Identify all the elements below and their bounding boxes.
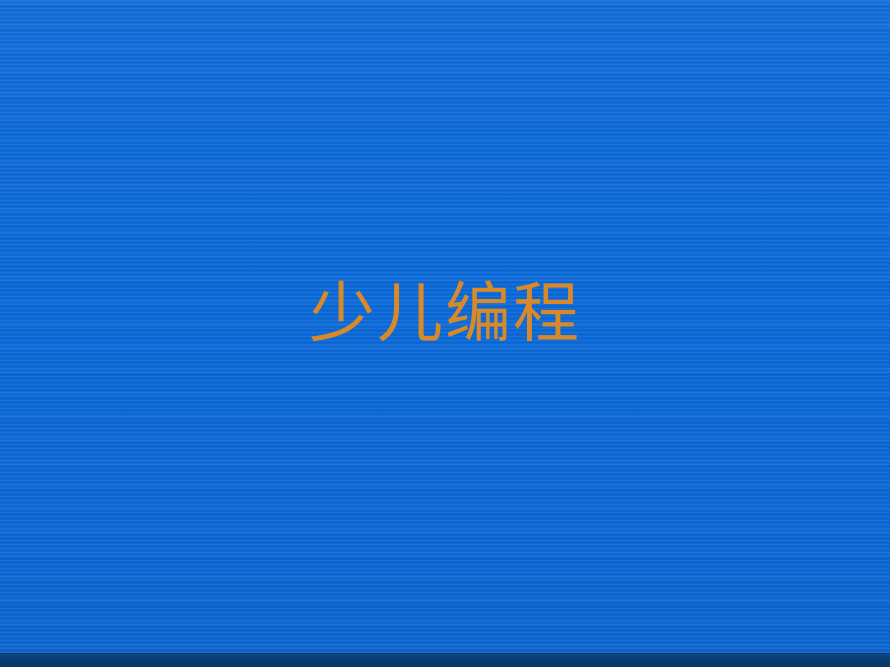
presentation-slide: 少儿编程	[0, 0, 890, 667]
slide-background	[0, 0, 890, 667]
slide-footer-band	[0, 653, 890, 667]
